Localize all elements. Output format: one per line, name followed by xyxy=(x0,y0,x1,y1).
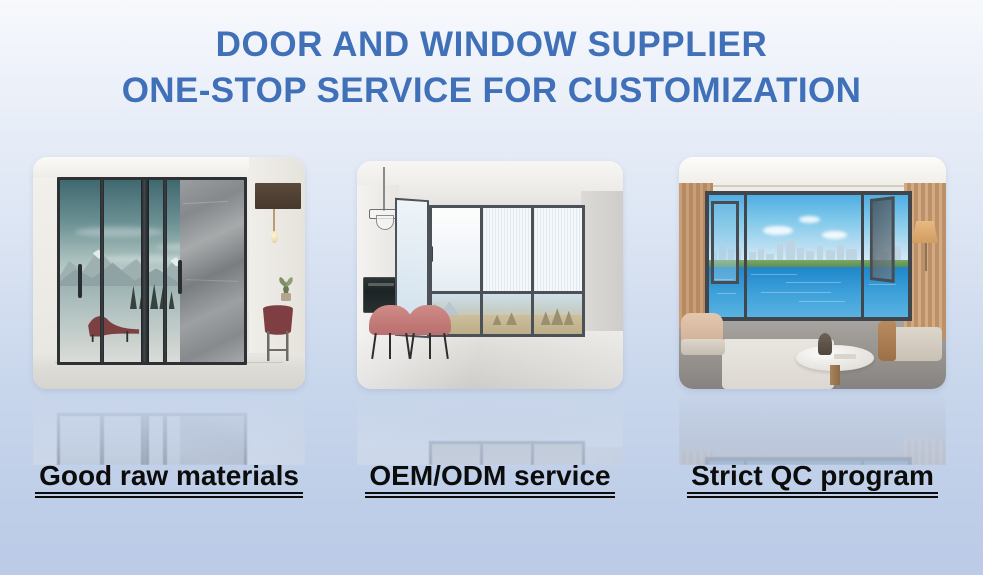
pendant-rod xyxy=(383,167,385,211)
feature-card-oem-odm-service[interactable] xyxy=(357,161,623,389)
sliding-door-frame xyxy=(57,177,247,365)
cloud xyxy=(799,216,820,223)
door-glass-area xyxy=(60,180,244,362)
cloud xyxy=(75,227,163,237)
reflection-surface xyxy=(33,389,305,465)
right-wall xyxy=(581,191,623,337)
window-pane-lower-right xyxy=(534,294,582,334)
feature-caption-row: Good raw materials OEM/ODM service Stric… xyxy=(0,459,983,503)
pendant-cord xyxy=(273,209,275,233)
window-pane-upper-right xyxy=(534,208,582,291)
window-column-right xyxy=(864,195,908,317)
lounge-chair xyxy=(86,311,141,342)
marble-feature-wall xyxy=(180,180,244,362)
potted-plant-icon xyxy=(275,275,297,301)
window-column-left xyxy=(709,195,747,317)
dining-chair xyxy=(407,305,451,359)
cloud xyxy=(763,226,793,236)
caption-text: Strict QC program xyxy=(691,459,934,498)
feature-card-strict-qc-program[interactable] xyxy=(679,157,946,389)
water-ripple xyxy=(799,301,845,303)
floor-lamp-shade xyxy=(912,221,938,243)
tree-line xyxy=(747,260,861,267)
door-mullion xyxy=(100,180,104,362)
window-pane-upper-middle xyxy=(483,208,531,291)
pendant-bulb xyxy=(271,231,278,243)
window-pane-upper-left xyxy=(432,208,480,291)
sofa xyxy=(878,309,942,367)
chair-back xyxy=(407,305,451,335)
feature-card-good-raw-materials[interactable] xyxy=(33,157,305,389)
reflection-glass xyxy=(60,416,244,465)
floor-lamp-pole xyxy=(925,243,927,271)
headline-line-1: DOOR AND WINDOW SUPPLIER xyxy=(0,22,983,68)
reflection-surface xyxy=(357,389,623,465)
table-book xyxy=(834,354,856,359)
chair-leg xyxy=(443,333,449,359)
bar-stool xyxy=(261,303,295,361)
decor-sculpture xyxy=(818,333,832,355)
reflection-card-2 xyxy=(357,389,623,465)
cloud xyxy=(822,231,847,239)
banner-heading-group: DOOR AND WINDOW SUPPLIER ONE-STOP SERVIC… xyxy=(0,22,983,114)
feature-image-row xyxy=(0,157,983,397)
dining-room-window-image xyxy=(357,161,623,389)
chair-leg xyxy=(371,333,377,359)
window-pane-grid xyxy=(429,205,585,337)
window-column-fixed xyxy=(747,195,864,317)
reflection-floor xyxy=(357,389,623,447)
armchair xyxy=(681,313,725,365)
door-handle xyxy=(178,260,182,294)
caption-good-raw-materials: Good raw materials xyxy=(33,459,305,498)
chair-leg xyxy=(389,333,391,359)
reflection-content xyxy=(357,389,623,465)
chair-leg xyxy=(429,333,431,359)
caption-text: OEM/ODM service xyxy=(369,459,610,498)
sliding-door-room-image xyxy=(33,157,305,389)
door-mullion xyxy=(163,180,167,362)
reflection-door xyxy=(57,413,247,465)
door-handle xyxy=(78,264,82,298)
reflection-card-1 xyxy=(33,389,305,465)
headline-line-2: ONE-STOP SERVICE FOR CUSTOMIZATION xyxy=(0,68,983,114)
living-room-window-image xyxy=(679,157,946,389)
reflection-right-wall xyxy=(249,389,305,465)
door-stile xyxy=(141,180,149,362)
lake-water xyxy=(747,267,861,317)
reflection-stile xyxy=(141,416,149,465)
reflection-mullion xyxy=(100,416,104,465)
reflection-mullion xyxy=(163,416,167,465)
water-ripple xyxy=(717,293,736,295)
water-ripple xyxy=(751,274,797,276)
glass-view xyxy=(747,195,861,317)
caption-text: Good raw materials xyxy=(39,459,299,498)
caption-oem-odm-service: OEM/ODM service xyxy=(357,459,623,498)
sofa-arm xyxy=(878,321,896,361)
promo-banner: DOOR AND WINDOW SUPPLIER ONE-STOP SERVIC… xyxy=(0,0,983,575)
casement-sash-closed xyxy=(711,201,738,284)
coffee-table-base xyxy=(830,365,840,385)
armchair-seat xyxy=(681,339,725,355)
reflection-surface xyxy=(679,389,946,465)
water-ripple xyxy=(869,284,896,286)
caption-strict-qc-program: Strict QC program xyxy=(679,459,946,498)
casement-window-wall xyxy=(705,191,912,321)
reflection-content xyxy=(679,389,946,465)
water-ripple xyxy=(786,282,841,284)
water-ripple xyxy=(761,292,832,294)
wall-shelf xyxy=(255,183,301,209)
casement-sash-open xyxy=(870,196,895,282)
window-pane-lower-middle xyxy=(483,294,531,334)
window-handle xyxy=(432,246,433,262)
reflection-content xyxy=(33,389,305,465)
coffee-table xyxy=(796,345,874,387)
reflection-card-3 xyxy=(679,389,946,465)
chair-leg xyxy=(409,333,415,359)
reflection-marble xyxy=(180,416,244,465)
